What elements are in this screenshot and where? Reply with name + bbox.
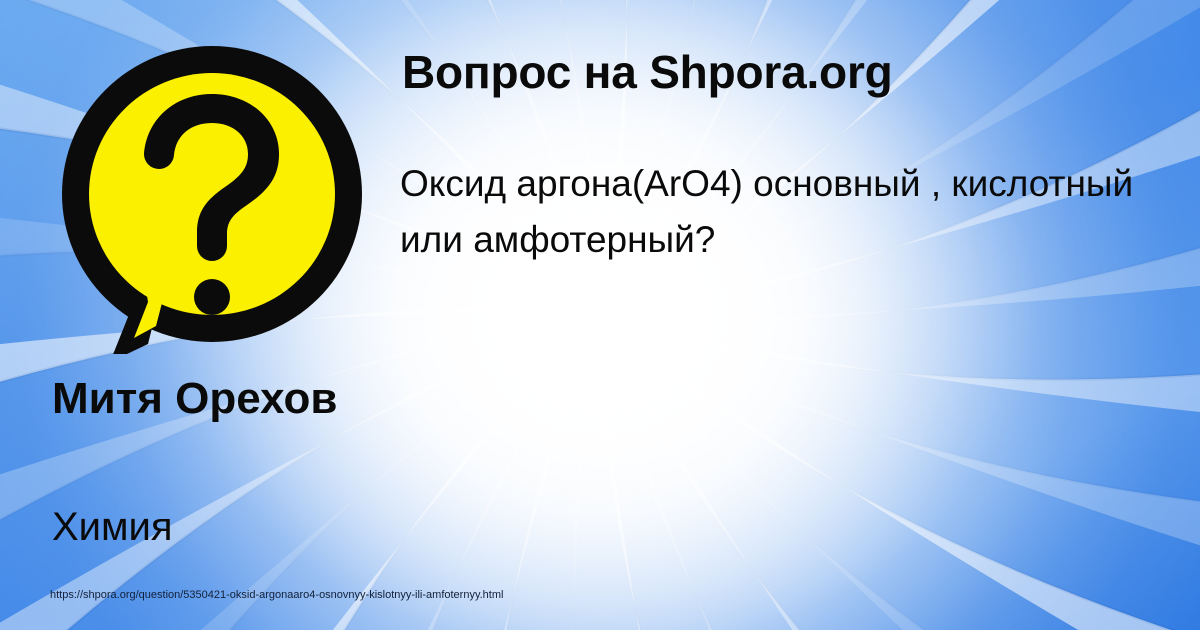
question-speech-bubble-icon xyxy=(52,44,364,354)
subject-label: Химия xyxy=(52,505,382,549)
author-name: Митя Орехов xyxy=(52,374,382,423)
question-card: Вопрос на Shpora.org Оксид аргона(ArO4) … xyxy=(0,0,1200,630)
question-text: Оксид аргона(ArO4) основный , кислотный … xyxy=(400,156,1192,268)
page-title: Вопрос на Shpora.org xyxy=(402,48,1182,98)
source-url: https://shpora.org/question/5350421-oksi… xyxy=(50,589,503,602)
